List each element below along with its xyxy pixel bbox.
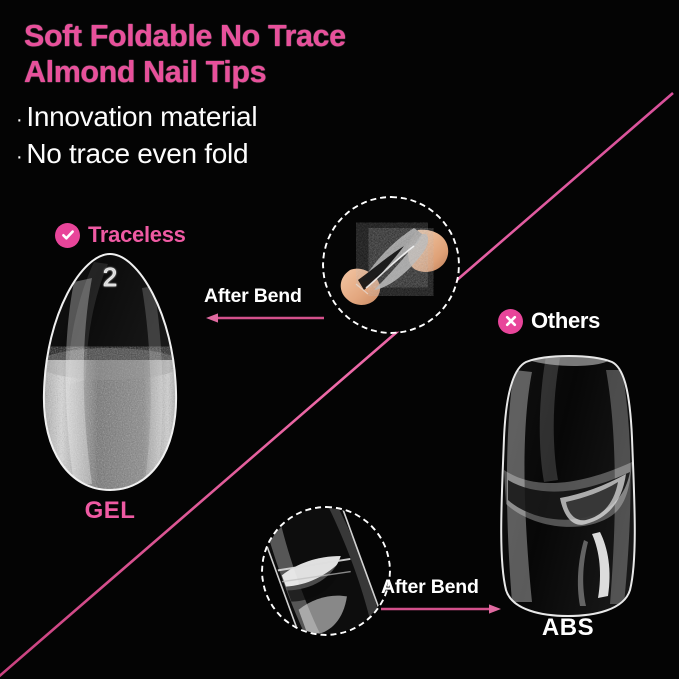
list-item-label: Innovation material: [26, 98, 257, 135]
after-bend-annotation-bottom: After Bend: [381, 576, 503, 615]
list-item: · Innovation material: [16, 98, 616, 135]
bullet-dot-icon: ·: [16, 147, 22, 167]
abs-material-label: ABS: [488, 614, 648, 642]
after-bend-label: After Bend: [204, 285, 302, 307]
arrow-right-icon: [381, 603, 503, 615]
nail-size-number: 2: [34, 262, 186, 293]
check-circle-icon: [55, 223, 80, 248]
infographic-canvas: Soft Foldable No Trace Almond Nail Tips …: [0, 0, 679, 679]
list-item-label: No trace even fold: [26, 135, 248, 172]
feature-list: · Innovation material · No trace even fo…: [16, 98, 616, 172]
arrow-left-icon: [204, 312, 326, 324]
abs-nail-tip-image: [488, 352, 648, 620]
after-bend-annotation-top: After Bend: [204, 285, 326, 324]
page-title: Soft Foldable No Trace Almond Nail Tips: [24, 18, 664, 90]
list-item: · No trace even fold: [16, 135, 616, 172]
status-badge-label: Traceless: [88, 222, 186, 248]
inset-folded-gel-tip: [322, 196, 460, 334]
bullet-dot-icon: ·: [16, 110, 22, 130]
gel-material-label: GEL: [34, 497, 186, 525]
inset-creased-abs-tip: [261, 506, 391, 636]
status-badge-others: Others: [498, 308, 600, 334]
status-badge-label: Others: [531, 308, 600, 334]
x-circle-icon: [498, 309, 523, 334]
status-badge-traceless: Traceless: [55, 222, 186, 248]
after-bend-label: After Bend: [381, 576, 479, 598]
